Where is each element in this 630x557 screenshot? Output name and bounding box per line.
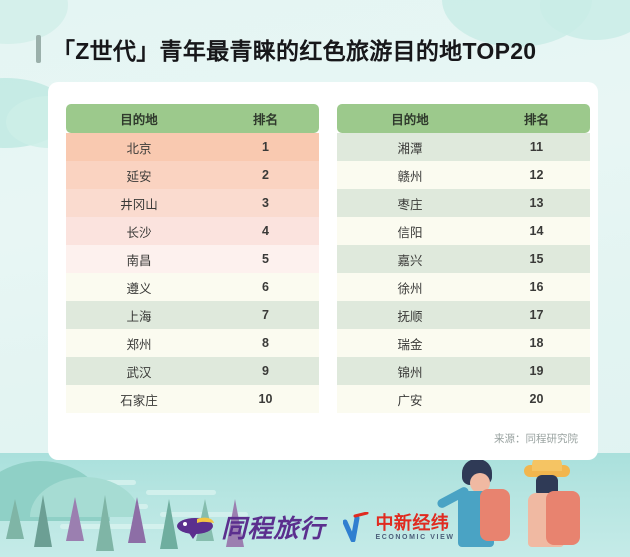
cell-rank: 12	[483, 161, 590, 189]
logo-tongcheng-label: 同程旅行	[221, 509, 325, 545]
table-row: 郑州8	[66, 329, 319, 357]
cell-rank: 15	[483, 245, 590, 273]
logo-jingwei[interactable]: 中新经纬 ECONOMIC VIEW	[343, 512, 454, 542]
table-row: 锦州19	[337, 357, 590, 385]
table-head-right: 目的地 排名	[337, 104, 590, 133]
cell-rank: 10	[212, 385, 319, 413]
cell-destination: 瑞金	[337, 329, 483, 357]
table-head-left: 目的地 排名	[66, 104, 319, 133]
table-row: 井冈山3	[66, 189, 319, 217]
cell-destination: 郑州	[66, 329, 212, 357]
cell-destination: 嘉兴	[337, 245, 483, 273]
cell-rank: 14	[483, 217, 590, 245]
cell-rank: 4	[212, 217, 319, 245]
infographic-root: 「Z世代」青年最青睐的红色旅游目的地TOP20 目的地 排名 北京1延安2井冈山…	[0, 0, 630, 557]
table-row: 长沙4	[66, 217, 319, 245]
cell-destination: 武汉	[66, 357, 212, 385]
cell-rank: 7	[212, 301, 319, 329]
table-row: 石家庄10	[66, 385, 319, 413]
cell-destination: 信阳	[337, 217, 483, 245]
logo-jingwei-label-en: ECONOMIC VIEW	[375, 534, 454, 541]
table-body-left: 北京1延安2井冈山3长沙4南昌5遵义6上海7郑州8武汉9石家庄10	[66, 133, 319, 413]
cell-destination: 锦州	[337, 357, 483, 385]
cell-rank: 8	[212, 329, 319, 357]
column-header-rank: 排名	[212, 104, 319, 133]
cell-destination: 赣州	[337, 161, 483, 189]
table-row: 湘潭11	[337, 133, 590, 161]
cell-destination: 徐州	[337, 273, 483, 301]
cell-rank: 17	[483, 301, 590, 329]
column-header-rank: 排名	[483, 104, 590, 133]
table-row: 上海7	[66, 301, 319, 329]
cell-destination: 广安	[337, 385, 483, 413]
cell-destination: 抚顺	[337, 301, 483, 329]
cell-destination: 上海	[66, 301, 212, 329]
cell-rank: 2	[212, 161, 319, 189]
cell-destination: 北京	[66, 133, 212, 161]
column-header-destination: 目的地	[337, 104, 483, 133]
cell-rank: 20	[483, 385, 590, 413]
cell-destination: 延安	[66, 161, 212, 189]
logo-jingwei-text-block: 中新经纬 ECONOMIC VIEW	[375, 514, 454, 541]
tongcheng-bird-icon	[175, 514, 215, 540]
cell-destination: 石家庄	[66, 385, 212, 413]
table-row: 武汉9	[66, 357, 319, 385]
table-row: 北京1	[66, 133, 319, 161]
content-card: 目的地 排名 北京1延安2井冈山3长沙4南昌5遵义6上海7郑州8武汉9石家庄10…	[48, 82, 598, 460]
table-row: 广安20	[337, 385, 590, 413]
table-row: 徐州16	[337, 273, 590, 301]
logo-tongcheng[interactable]: 同程旅行	[175, 509, 325, 545]
jingwei-check-icon	[343, 512, 369, 542]
footer-logo-bar: 同程旅行 中新经纬 ECONOMIC VIEW	[0, 509, 630, 545]
table-header-row: 目的地 排名	[66, 104, 319, 133]
ranking-table-left: 目的地 排名 北京1延安2井冈山3长沙4南昌5遵义6上海7郑州8武汉9石家庄10	[66, 104, 319, 413]
cell-rank: 9	[212, 357, 319, 385]
table-row: 遵义6	[66, 273, 319, 301]
cell-destination: 遵义	[66, 273, 212, 301]
title-accent-bar	[36, 35, 41, 63]
page-title: 「Z世代」青年最青睐的红色旅游目的地TOP20	[52, 32, 536, 66]
table-row: 嘉兴15	[337, 245, 590, 273]
table-row: 南昌5	[66, 245, 319, 273]
table-row: 信阳14	[337, 217, 590, 245]
source-attribution: 来源：同程研究院	[494, 431, 578, 446]
table-header-row: 目的地 排名	[337, 104, 590, 133]
logo-jingwei-label-cn: 中新经纬	[375, 514, 454, 532]
cell-destination: 井冈山	[66, 189, 212, 217]
cell-destination: 长沙	[66, 217, 212, 245]
cell-rank: 11	[483, 133, 590, 161]
cell-rank: 16	[483, 273, 590, 301]
water-stripe	[146, 490, 216, 495]
table-row: 赣州12	[337, 161, 590, 189]
cell-rank: 18	[483, 329, 590, 357]
cell-rank: 1	[212, 133, 319, 161]
table-row: 抚顺17	[337, 301, 590, 329]
cell-destination: 枣庄	[337, 189, 483, 217]
ranking-table-right: 目的地 排名 湘潭11赣州12枣庄13信阳14嘉兴15徐州16抚顺17瑞金18锦…	[337, 104, 590, 413]
cell-rank: 19	[483, 357, 590, 385]
table-row: 延安2	[66, 161, 319, 189]
cell-rank: 6	[212, 273, 319, 301]
column-header-destination: 目的地	[66, 104, 212, 133]
ranking-table-wrapper: 目的地 排名 北京1延安2井冈山3长沙4南昌5遵义6上海7郑州8武汉9石家庄10…	[66, 104, 580, 413]
table-row: 瑞金18	[337, 329, 590, 357]
cell-destination: 南昌	[66, 245, 212, 273]
table-row: 枣庄13	[337, 189, 590, 217]
cell-rank: 3	[212, 189, 319, 217]
page-title-row: 「Z世代」青年最青睐的红色旅游目的地TOP20	[36, 32, 536, 66]
table-body-right: 湘潭11赣州12枣庄13信阳14嘉兴15徐州16抚顺17瑞金18锦州19广安20	[337, 133, 590, 413]
cell-rank: 13	[483, 189, 590, 217]
cell-destination: 湘潭	[337, 133, 483, 161]
cell-rank: 5	[212, 245, 319, 273]
table-column-divider	[327, 104, 329, 413]
